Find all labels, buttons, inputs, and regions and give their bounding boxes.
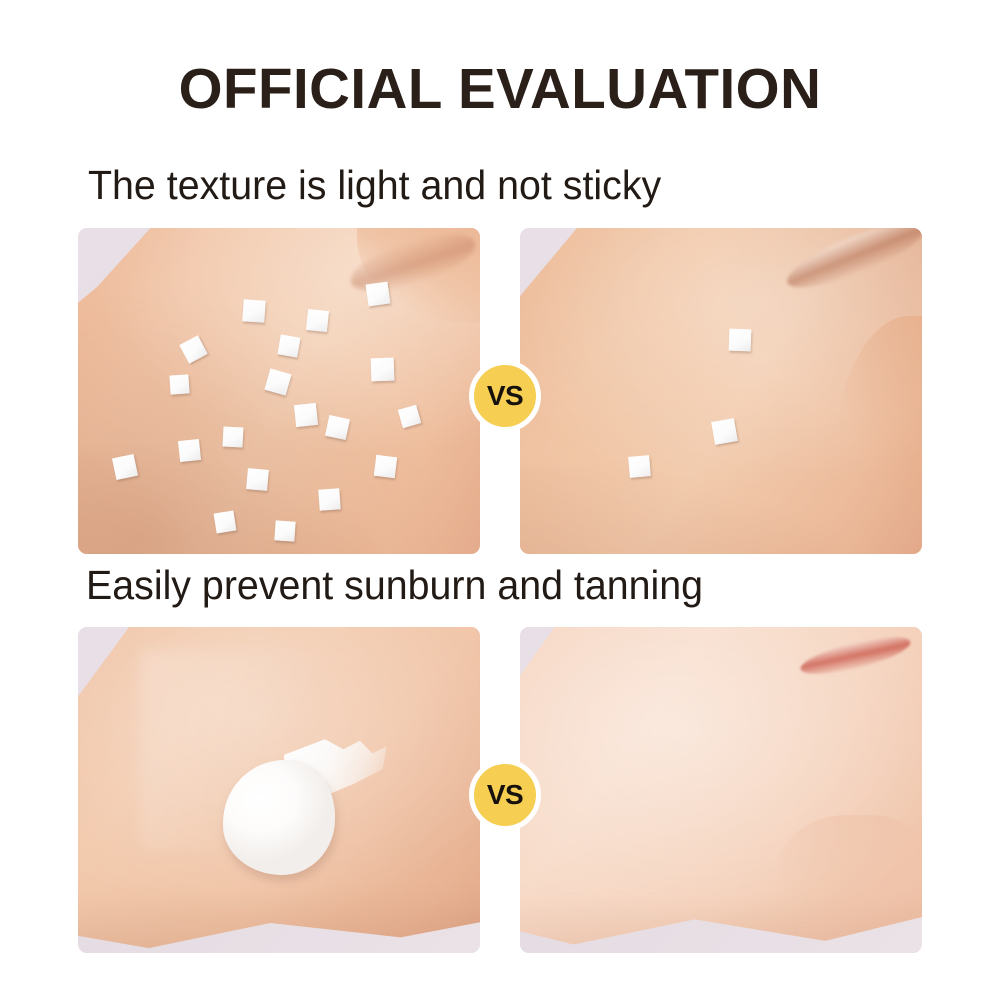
hand-shape (520, 228, 922, 554)
hand-image-cream (78, 627, 480, 953)
hand-image-heavy-residue (78, 228, 480, 554)
section-heading-texture: The texture is light and not sticky (88, 163, 661, 208)
residue-flake (213, 510, 236, 533)
evaluation-page: OFFICIAL EVALUATION The texture is light… (0, 0, 1000, 1000)
residue-flake (711, 419, 738, 446)
panel-heavy-residue (78, 228, 480, 554)
residue-flake (242, 299, 265, 322)
hand-shape (520, 627, 922, 953)
vs-gap-texture: VS (480, 228, 520, 554)
section-heading-sunburn: Easily prevent sunburn and tanning (86, 563, 703, 608)
panel-protected-skin (520, 627, 922, 953)
panel-cream-applied (78, 627, 480, 953)
vs-badge-texture: VS (469, 360, 541, 432)
residue-flake (628, 455, 651, 478)
page-title: OFFICIAL EVALUATION (5, 60, 995, 120)
residue-flake (177, 439, 200, 462)
vs-badge-sunburn: VS (469, 759, 541, 831)
finger-split (780, 228, 922, 299)
skin-shadow (520, 467, 834, 554)
residue-flake (222, 426, 243, 447)
hand-image-protected (520, 627, 922, 953)
hand-image-light-residue (520, 228, 922, 554)
residue-flake (318, 488, 340, 510)
panel-light-residue (520, 228, 922, 554)
residue-flake (170, 374, 190, 394)
thumb-edge (834, 316, 922, 554)
residue-flake (371, 358, 395, 382)
vs-gap-sunburn: VS (480, 627, 520, 953)
residue-flake (366, 282, 391, 307)
comparison-row-texture: VS (78, 228, 922, 554)
residue-flake (306, 308, 329, 331)
residue-flake (277, 334, 300, 357)
cream-blob (223, 760, 336, 875)
comparison-row-sunburn: VS (78, 627, 922, 953)
residue-flake (274, 521, 295, 542)
residue-flake (374, 455, 397, 478)
finger-gap (798, 630, 914, 682)
residue-flake (294, 403, 318, 427)
residue-flake (246, 468, 269, 491)
cream-swatch (223, 738, 384, 875)
residue-flake (729, 329, 752, 352)
